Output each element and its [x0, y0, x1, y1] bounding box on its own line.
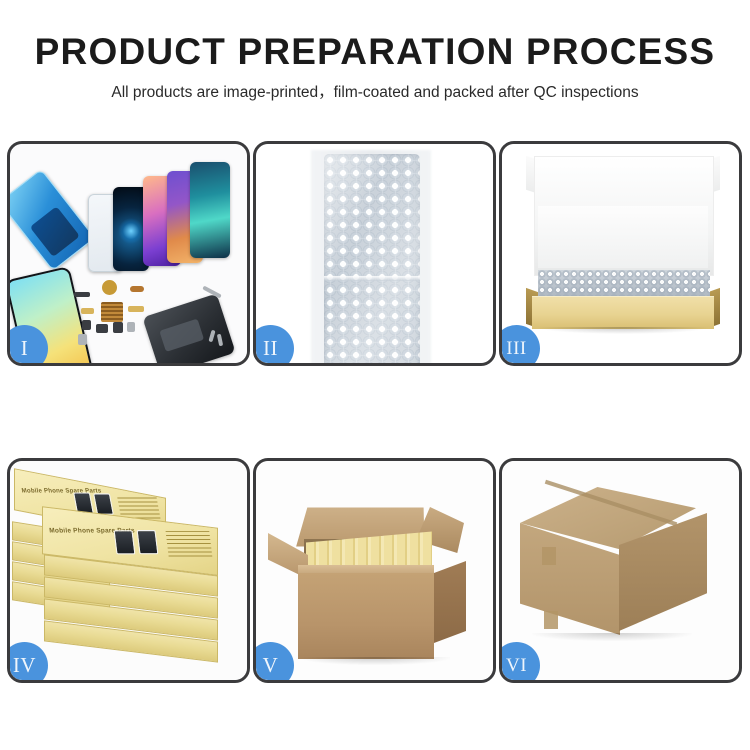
phone-lcd-blue — [10, 169, 95, 272]
phone-display-teal — [190, 162, 230, 258]
step-image-stacked-boxes: Mobile Phone Spare Parts Mobile Phone Sp… — [10, 461, 247, 680]
step-badge-5: V — [256, 642, 294, 680]
step-card-1: I — [7, 141, 250, 366]
mailer-kraft-front — [532, 296, 714, 329]
header: PRODUCT PREPARATION PROCESS All products… — [0, 0, 750, 104]
part-camera-module — [82, 320, 91, 330]
page-title: PRODUCT PREPARATION PROCESS — [0, 30, 750, 74]
step-badge-6: VI — [502, 642, 540, 680]
page-subtitle: All products are image-printed，film-coat… — [0, 82, 750, 104]
step-card-2: II — [253, 141, 496, 366]
part-ic-grid — [101, 302, 123, 322]
part-vibrator — [113, 322, 123, 333]
part-metal-shield — [127, 322, 135, 332]
step-image-sealed-carton: VI — [502, 461, 739, 680]
mailer-shadow — [538, 327, 708, 334]
carton-side-face — [434, 561, 466, 643]
retail-box-screen-2a — [114, 530, 136, 554]
step-badge-3: III — [502, 325, 540, 363]
retail-box-stack: Mobile Phone Spare Parts Mobile Phone Sp… — [10, 461, 247, 680]
retail-box-screen-2b — [137, 530, 159, 554]
step-card-3: III — [499, 141, 742, 366]
bubble-wrap-sheen — [324, 154, 420, 363]
sealed-carton-shadow — [532, 633, 692, 641]
step-image-carton-filling: V — [256, 461, 493, 680]
part-speaker — [96, 324, 108, 333]
part-copper-bracket — [130, 286, 144, 292]
phone-back-housing — [142, 293, 235, 363]
part-sim-tray — [78, 334, 87, 345]
product-preparation-page: PRODUCT PREPARATION PROCESS All products… — [0, 0, 750, 750]
step-image-bubble-wrap: II — [256, 144, 493, 363]
step-card-6: VI — [499, 458, 742, 683]
carton-front-face — [298, 573, 434, 659]
part-battery-connector — [74, 292, 90, 297]
sealed-carton-tape-tab-1 — [542, 547, 556, 565]
bubble-wrap-seam — [324, 276, 420, 281]
step-badge-2: II — [256, 325, 294, 363]
process-step-grid: I II II — [7, 141, 743, 683]
step-image-products: I — [10, 144, 247, 363]
part-flex-cable-2 — [128, 306, 144, 312]
mailer-foam-sheet — [538, 206, 708, 268]
sealed-carton-tape-tab-2 — [544, 611, 558, 629]
part-flex-cable — [81, 308, 94, 314]
step-card-5: V — [253, 458, 496, 683]
carton-shadow — [300, 657, 450, 665]
step-card-4: Mobile Phone Spare Parts Mobile Phone Sp… — [7, 458, 250, 683]
part-wireless-coil — [102, 280, 117, 295]
step-image-inner-box: III — [502, 144, 739, 363]
retail-box-speclines-2 — [166, 531, 213, 557]
